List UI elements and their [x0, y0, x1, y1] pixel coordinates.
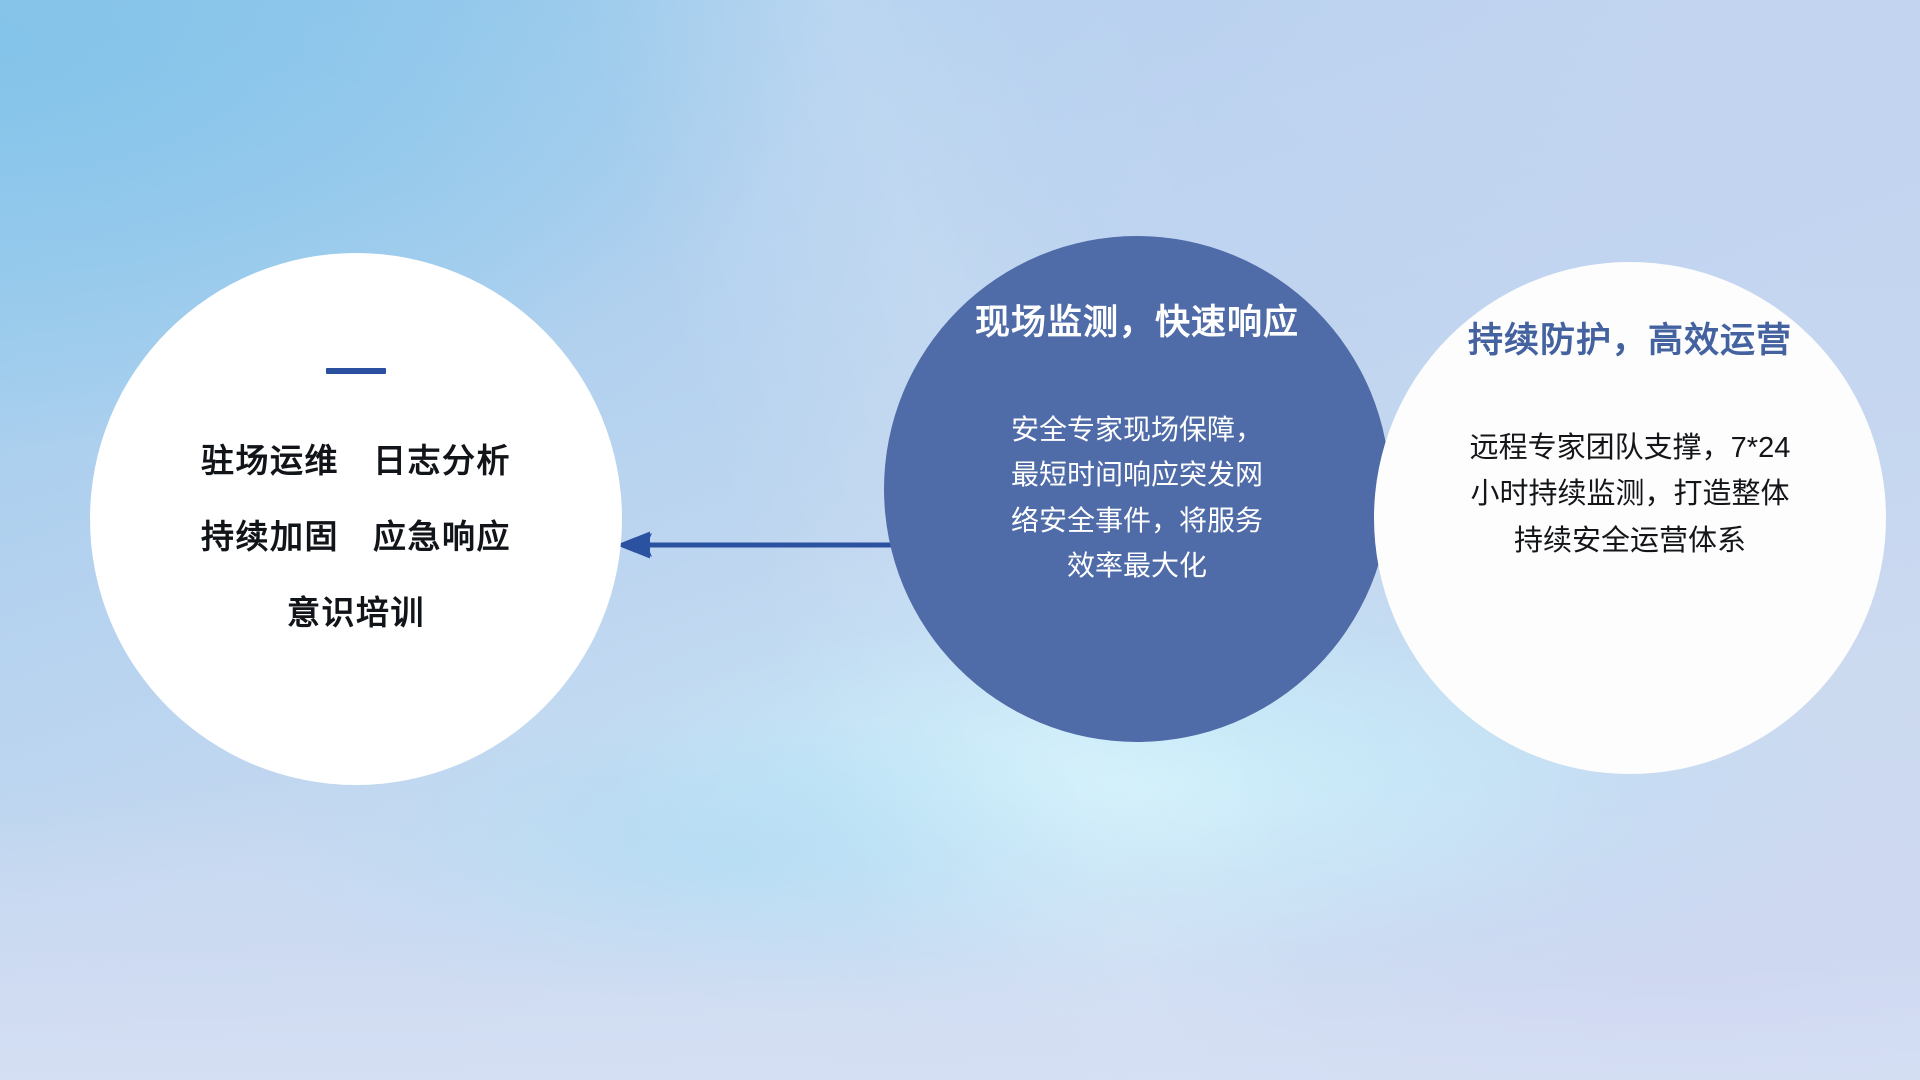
middle-card-title: 现场监测，快速响应 [975, 294, 1299, 345]
middle-card-body-line: 络安全事件，将服务 [972, 498, 1302, 543]
left-card-keyword-row: 意识培训 [287, 586, 425, 634]
keyword-item[interactable]: 日志分析 [373, 434, 511, 482]
middle-blue-circle-card[interactable]: 现场监测，快速响应 安全专家现场保障， 最短时间响应突发网 络安全事件，将服务 … [884, 236, 1390, 742]
horizontal-dash-icon [326, 368, 386, 374]
right-white-circle-card[interactable]: 持续防护，高效运营 远程专家团队支撑，7*24 小时持续监测，打造整体 持续安全… [1374, 262, 1886, 774]
right-card-title: 持续防护，高效运营 [1468, 312, 1792, 363]
left-card-keyword-row: 驻场运维 日志分析 [201, 434, 511, 482]
left-card-keyword-list: 驻场运维 日志分析 持续加固 应急响应 意识培训 [201, 434, 511, 634]
middle-card-body-line: 最短时间响应突发网 [972, 452, 1302, 497]
left-card-keyword-row: 持续加固 应急响应 [201, 510, 511, 558]
middle-card-body-line: 效率最大化 [972, 543, 1302, 588]
left-white-circle-card[interactable]: 驻场运维 日志分析 持续加固 应急响应 意识培训 [90, 253, 622, 785]
right-card-body-line: 持续安全运营体系 [1420, 518, 1840, 564]
middle-card-body: 安全专家现场保障， 最短时间响应突发网 络安全事件，将服务 效率最大化 [972, 407, 1302, 588]
right-card-body: 远程专家团队支撑，7*24 小时持续监测，打造整体 持续安全运营体系 [1420, 425, 1840, 564]
keyword-item[interactable]: 应急响应 [373, 510, 511, 558]
keyword-item[interactable]: 持续加固 [201, 510, 339, 558]
middle-card-body-line: 安全专家现场保障， [972, 407, 1302, 452]
right-card-body-line: 小时持续监测，打造整体 [1420, 471, 1840, 517]
arrow-left-icon [600, 515, 910, 575]
keyword-item[interactable]: 驻场运维 [201, 434, 339, 482]
right-card-body-line: 远程专家团队支撑，7*24 [1420, 425, 1840, 471]
keyword-item[interactable]: 意识培训 [287, 586, 425, 634]
